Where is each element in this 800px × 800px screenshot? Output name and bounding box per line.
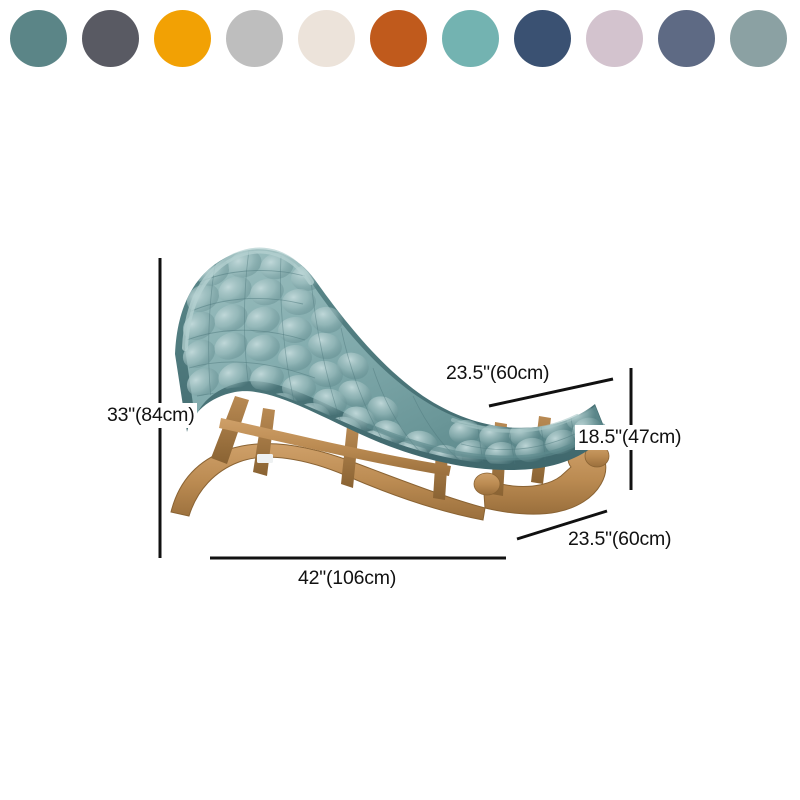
depth-top-dimension-label: 23.5"(60cm) [443,361,552,386]
height-dimension-label: 33"(84cm) [104,403,197,428]
swatch-light-gray[interactable] [226,10,283,67]
swatch-slate-blue[interactable] [658,10,715,67]
swatch-amber-yellow[interactable] [154,10,211,67]
chair-tufted-cushion [178,246,605,473]
width-dimension-label: 42"(106cm) [295,566,399,591]
swatch-dusty-lilac[interactable] [586,10,643,67]
rocking-chair-illustration [165,236,635,556]
product-image [165,236,635,556]
swatch-teal-slate[interactable] [10,10,67,67]
swatch-navy-blue[interactable] [514,10,571,67]
seat-height-dimension-label: 18.5"(47cm) [575,425,684,450]
depth-bottom-dimension-label: 23.5"(60cm) [565,527,674,552]
swatch-charcoal-gray[interactable] [82,10,139,67]
swatch-aqua-teal[interactable] [442,10,499,67]
color-swatch-strip [0,0,800,78]
swatch-burnt-orange[interactable] [370,10,427,67]
swatch-cream-beige[interactable] [298,10,355,67]
product-dimension-diagram: 33"(84cm) 42"(106cm) 23.5"(60cm) 18.5"(4… [0,0,800,800]
swatch-sage-gray[interactable] [730,10,787,67]
